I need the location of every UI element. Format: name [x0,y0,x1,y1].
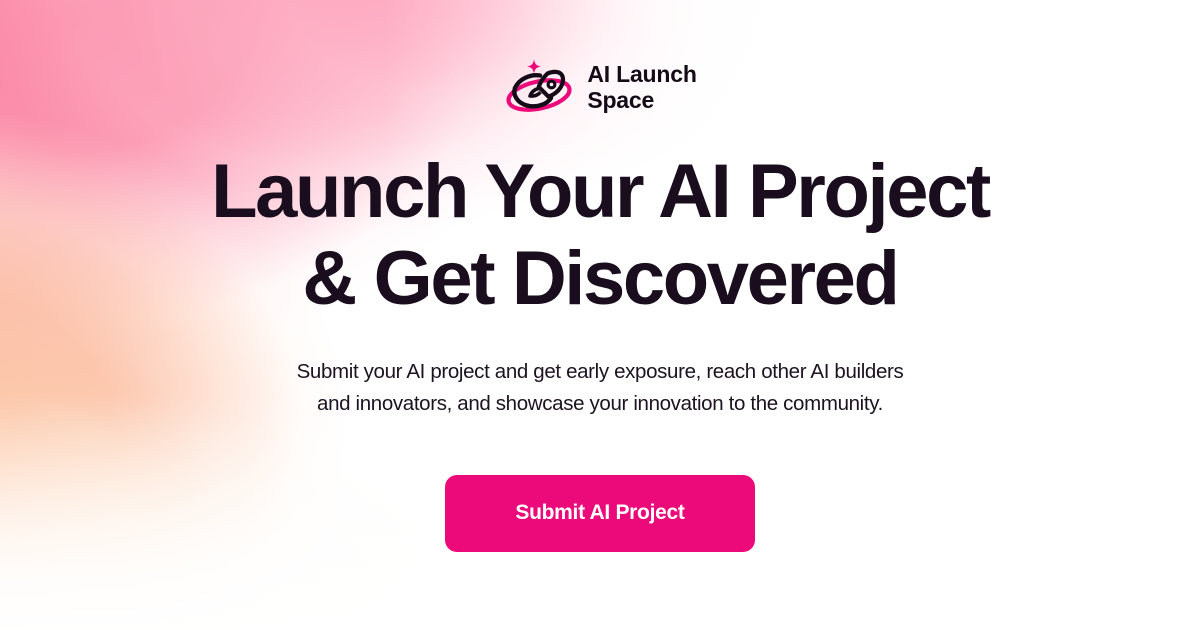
subtitle-line-1: Submit your AI project and get early exp… [297,356,904,388]
page-title: Launch Your AI Project & Get Discovered [211,154,989,317]
cta-row: Submit AI Project [445,475,755,552]
headline-line-2: & Get Discovered [211,241,989,317]
submit-ai-project-button[interactable]: Submit AI Project [445,475,755,552]
hero-section: AI Launch Space Launch Your AI Project &… [0,0,1200,630]
brand-logo[interactable]: AI Launch Space [503,57,696,119]
brand-name: AI Launch Space [587,62,696,114]
headline-line-1: Launch Your AI Project [211,154,989,230]
sparkle-icon [527,60,541,74]
hero-subtitle: Submit your AI project and get early exp… [297,356,904,420]
subtitle-line-2: and innovators, and showcase your innova… [297,388,904,420]
rocket-orbit-icon [503,57,575,119]
